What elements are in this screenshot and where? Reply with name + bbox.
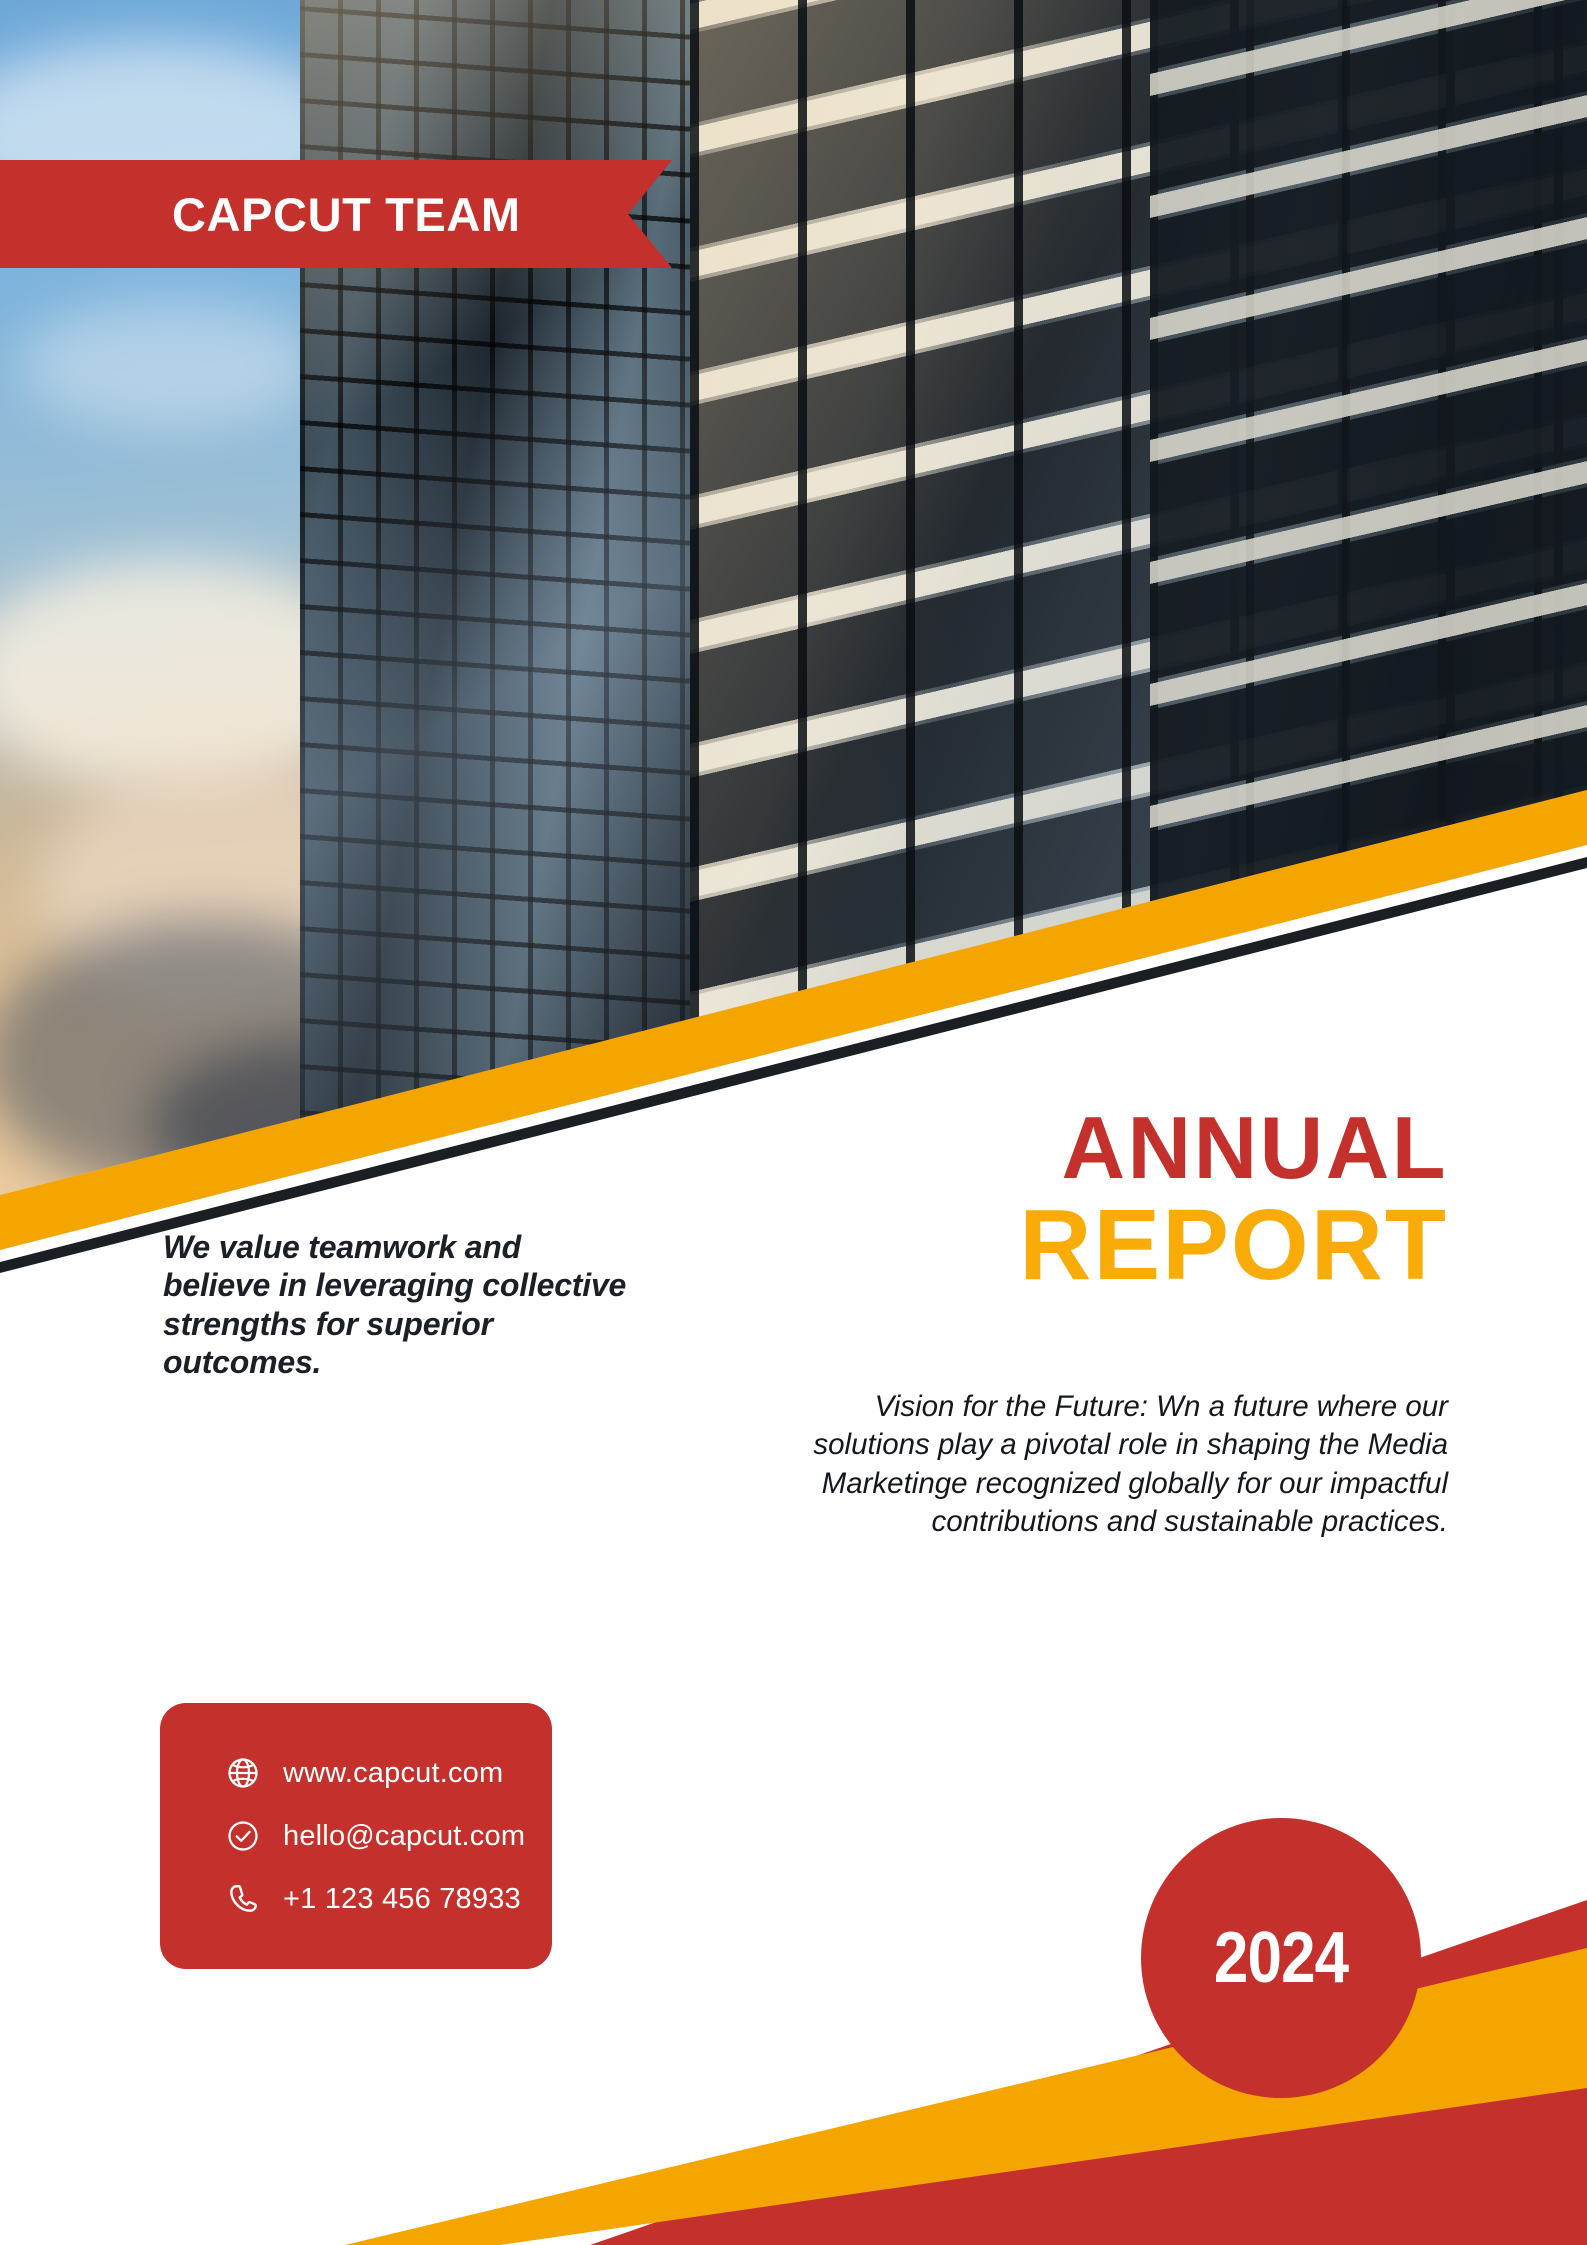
brand-banner: CAPCUT TEAM bbox=[0, 160, 672, 268]
contact-website-value: www.capcut.com bbox=[283, 1757, 503, 1790]
brand-banner-label: CAPCUT TEAM bbox=[172, 187, 521, 242]
building-tower-right bbox=[1150, 0, 1587, 1200]
contact-phone-value: +1 123 456 78933 bbox=[283, 1883, 521, 1916]
contact-row-website[interactable]: www.capcut.com bbox=[225, 1755, 552, 1791]
cloud-shape bbox=[20, 300, 320, 430]
contact-card: www.capcut.com hello@capcut.com +1 123 4… bbox=[160, 1703, 552, 1969]
page-title-line-1: ANNUAL bbox=[1019, 1106, 1448, 1190]
vision-paragraph: Vision for the Future: Wn a future where… bbox=[803, 1388, 1448, 1541]
tagline-text: We value teamwork and believe in leverag… bbox=[163, 1228, 633, 1382]
page-title: ANNUAL REPORT bbox=[1019, 1106, 1448, 1295]
year-badge: 2024 bbox=[1141, 1818, 1421, 2098]
page-title-line-2: REPORT bbox=[1019, 1196, 1448, 1295]
check-circle-icon bbox=[225, 1818, 261, 1854]
contact-row-email[interactable]: hello@capcut.com bbox=[225, 1818, 552, 1854]
year-badge-value: 2024 bbox=[1214, 1917, 1348, 1999]
phone-icon bbox=[225, 1881, 261, 1917]
globe-icon bbox=[225, 1755, 261, 1791]
contact-email-value: hello@capcut.com bbox=[283, 1820, 525, 1853]
contact-row-phone[interactable]: +1 123 456 78933 bbox=[225, 1881, 552, 1917]
